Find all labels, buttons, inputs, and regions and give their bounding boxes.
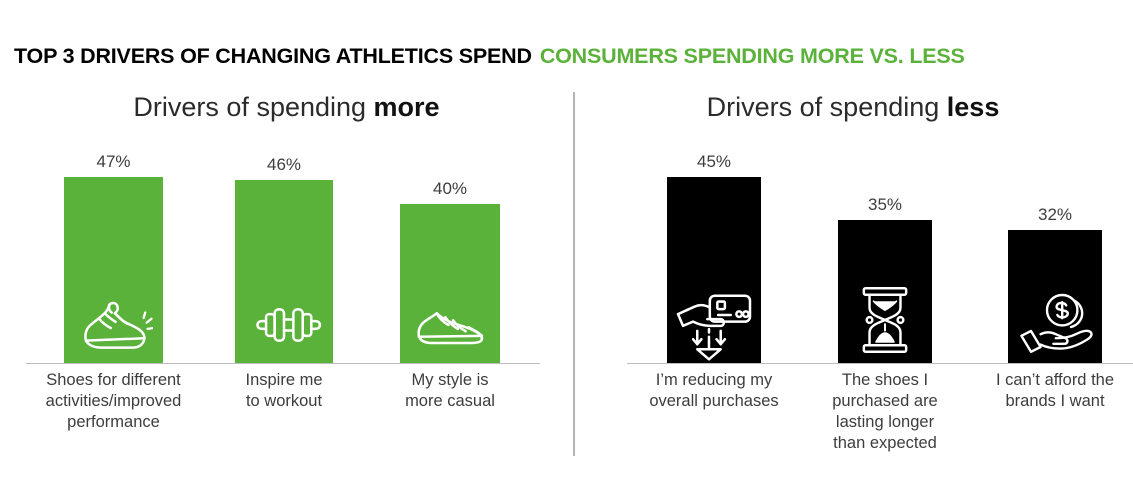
axis-baseline-right (627, 363, 1133, 364)
bar-label-line: The shoes I (795, 370, 975, 391)
bar-label-right-2: I can’t afford the brands I want (965, 370, 1133, 412)
dumbbell-icon (245, 295, 323, 355)
hourglass-icon (854, 285, 916, 355)
bar-value-right-1: 35% (838, 195, 932, 215)
bar-label-line: purchased are (795, 391, 975, 412)
panel-title-more-emphasis: more (374, 92, 440, 122)
bar-right-1[interactable] (838, 220, 932, 363)
bar-value-right-0: 45% (667, 152, 761, 172)
bar-label-line: performance (14, 412, 213, 433)
panel-title-less-prefix: Drivers of spending (707, 92, 947, 122)
bar-right-2[interactable] (1008, 230, 1102, 363)
bar-value-left-2: 40% (400, 179, 500, 199)
chart-page: TOP 3 DRIVERS OF CHANGING ATHLETICS SPEN… (0, 0, 1133, 488)
panel-title-less: Drivers of spending less (573, 92, 1133, 123)
card-in-hand-down-arrows-icon (672, 289, 756, 361)
panel-title-more-prefix: Drivers of spending (133, 92, 373, 122)
bar-label-line: My style is (360, 370, 540, 391)
bar-label-line: I’m reducing my (623, 370, 805, 391)
panel-title-more: Drivers of spending more (0, 92, 573, 123)
panel-title-less-emphasis: less (947, 92, 1000, 122)
bar-label-line: Shoes for different (14, 370, 213, 391)
bar-label-line: brands I want (965, 391, 1133, 412)
bar-label-line: I can’t afford the (965, 370, 1133, 391)
panel-spending-more: Drivers of spending more 47% (0, 0, 573, 488)
casual-sneaker-icon (411, 295, 489, 355)
bar-label-right-1: The shoes I purchased are lasting longer… (795, 370, 975, 454)
bar-label-left-1: Inspire me to workout (194, 370, 374, 412)
bar-right-0[interactable] (667, 177, 761, 363)
bar-left-0[interactable] (64, 177, 163, 363)
bar-label-left-2: My style is more casual (360, 370, 540, 412)
bar-value-left-1: 46% (235, 155, 333, 175)
bar-label-line: overall purchases (623, 391, 805, 412)
bar-value-left-0: 47% (64, 152, 163, 172)
bar-left-2[interactable] (400, 204, 500, 363)
bar-label-line: lasting longer (795, 412, 975, 433)
panel-spending-less: Drivers of spending less 45% (573, 0, 1133, 488)
bar-label-left-0: Shoes for different activities/improved … (14, 370, 213, 433)
coin-in-hand-icon (1015, 291, 1095, 355)
bar-label-line: more casual (360, 391, 540, 412)
bar-label-line: than expected (795, 433, 975, 454)
bar-left-1[interactable] (235, 180, 333, 363)
running-shoe-icon (75, 295, 153, 355)
bar-label-line: activities/improved (14, 391, 213, 412)
bar-value-right-2: 32% (1008, 205, 1102, 225)
bar-label-right-0: I’m reducing my overall purchases (623, 370, 805, 412)
bar-label-line: to workout (194, 391, 374, 412)
bar-label-line: Inspire me (194, 370, 374, 391)
axis-baseline-left (26, 363, 540, 364)
